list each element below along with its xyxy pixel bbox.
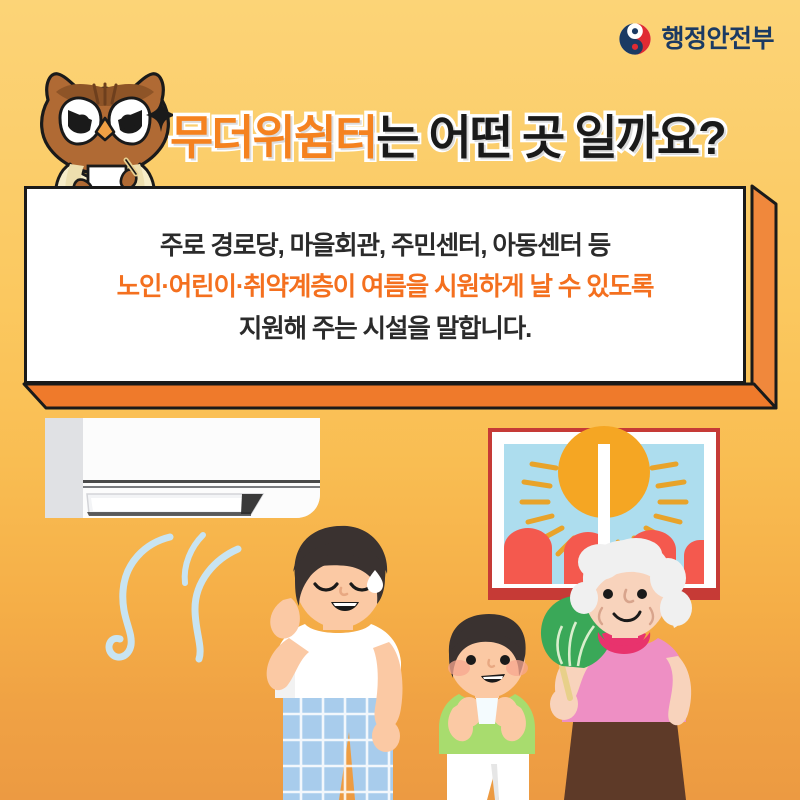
air-conditioner bbox=[45, 418, 320, 523]
page-title: 무더위쉼터는 어떤 곳 일까요? bbox=[170, 104, 790, 170]
panel-bottom-shadow bbox=[24, 384, 776, 408]
cool-air-swirls bbox=[95, 535, 240, 665]
ministry-logo-label: 행정안전부 bbox=[661, 27, 774, 52]
info-line-1: 주로 경로당, 마을회관, 주민센터, 아동센터 등 bbox=[160, 226, 610, 267]
info-panel-container: 주로 경로당, 마을회관, 주민센터, 아동센터 등 노인·어린이·취약계층이 … bbox=[24, 186, 776, 408]
taegeuk-icon bbox=[618, 22, 652, 56]
info-panel: 주로 경로당, 마을회관, 주민센터, 아동센터 등 노인·어린이·취약계층이 … bbox=[24, 186, 746, 384]
headline-accent: 무더위쉼터 bbox=[170, 114, 376, 161]
boy-drinking-water bbox=[425, 612, 549, 800]
info-line-3: 지원해 주는 시설을 말합니다. bbox=[239, 309, 531, 350]
elderly-woman-with-fan bbox=[540, 538, 712, 800]
heat-shelter-info-card: 행정안전부 bbox=[0, 0, 800, 800]
ministry-logo: 행정안전부 bbox=[618, 22, 774, 56]
headline-main: 는 어떤 곳 일까요? bbox=[376, 114, 725, 161]
panel-side-shadow bbox=[752, 186, 776, 408]
info-line-2: 노인·어린이·취약계층이 여름을 시원하게 날 수 있도록 bbox=[117, 267, 654, 308]
man-wiping-sweat bbox=[243, 522, 429, 800]
